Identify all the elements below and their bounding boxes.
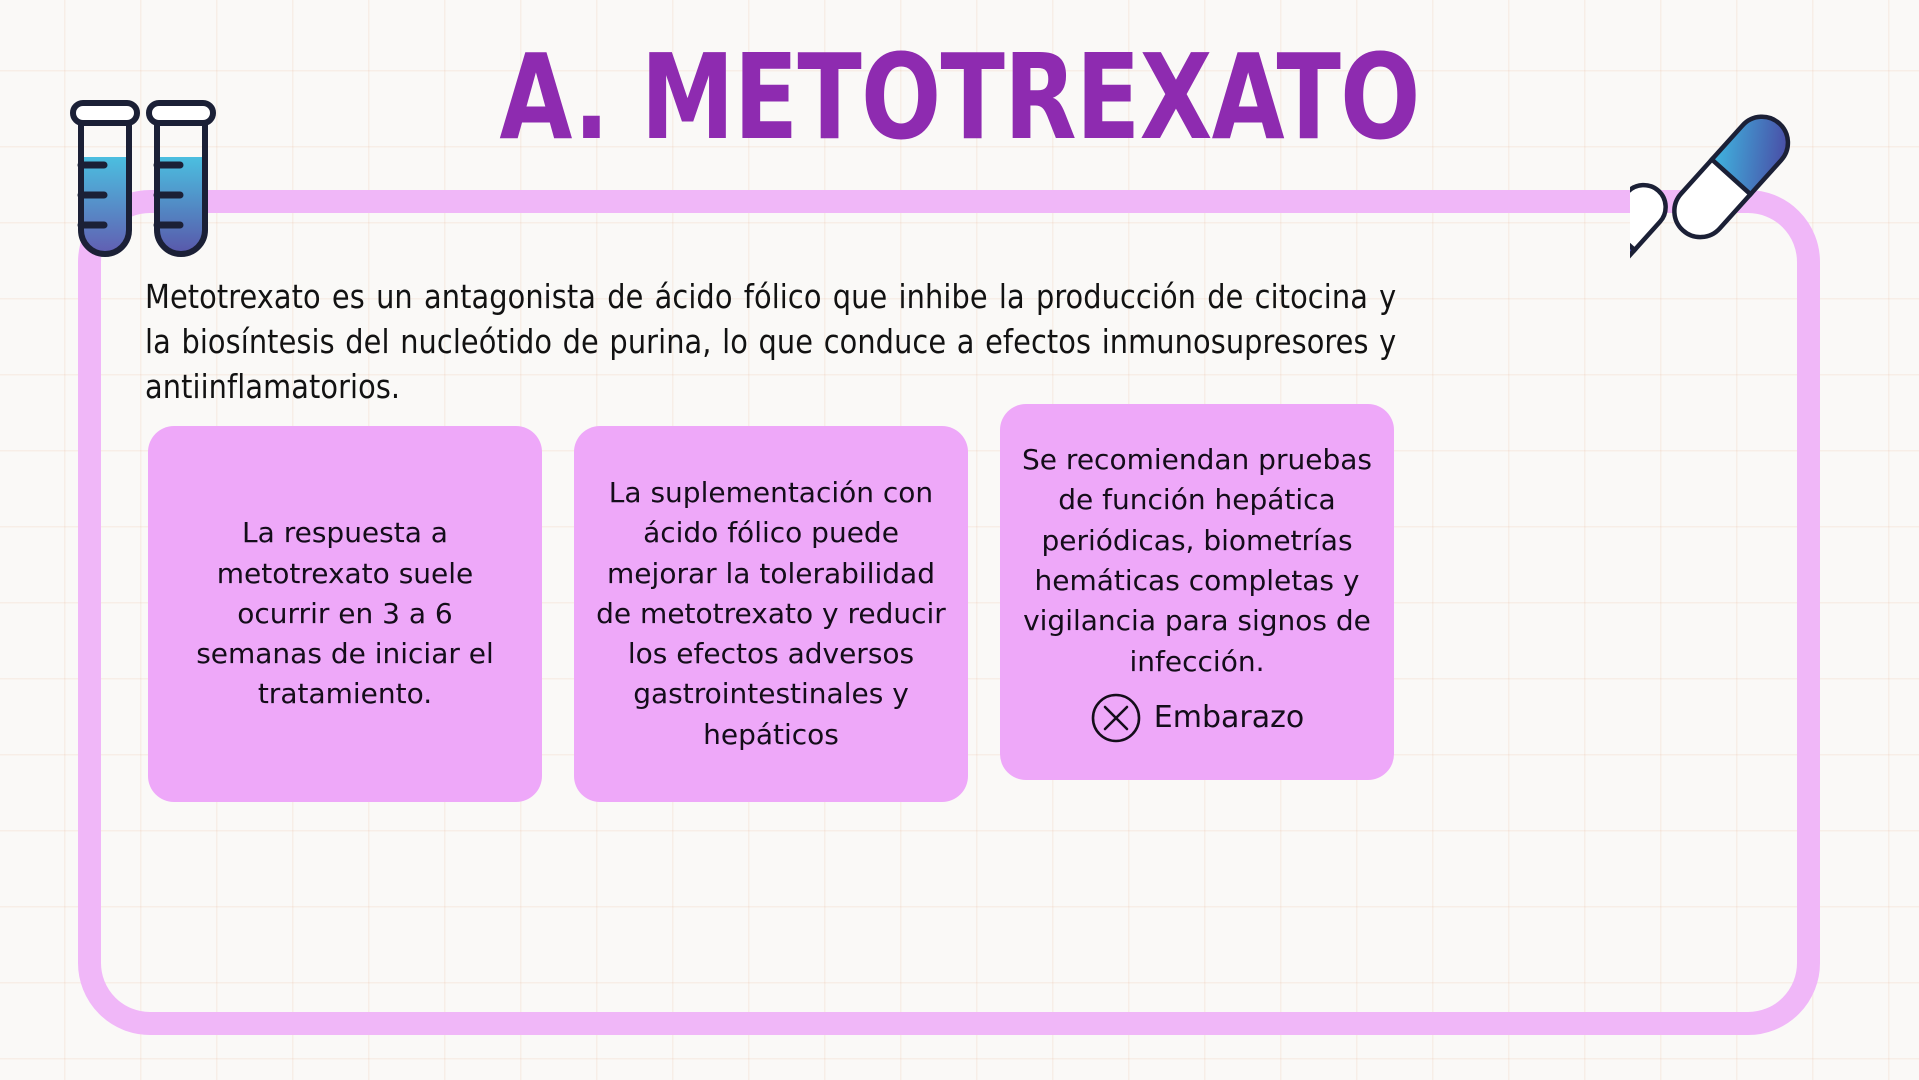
circle-x-icon [1090, 692, 1142, 744]
pregnancy-warning: Embarazo [1022, 692, 1372, 744]
card-response[interactable]: La respuesta a metotrexato suele ocurrir… [148, 426, 542, 802]
test-tubes-icon [68, 95, 228, 260]
slide-canvas: A. METOTREXATO [0, 0, 1919, 1080]
intro-paragraph: Metotrexato es un antagonista de ácido f… [145, 275, 1396, 410]
page-title: A. METOTREXATO [192, 38, 1727, 156]
cards-row: La respuesta a metotrexato suele ocurrir… [148, 404, 1728, 984]
card-response-text: La respuesta a metotrexato suele ocurrir… [170, 513, 520, 715]
pregnancy-label: Embarazo [1154, 696, 1304, 739]
capsule-pills-icon [1630, 88, 1870, 273]
card-monitoring-text: Se recomiendan pruebas de función hepáti… [1022, 440, 1372, 682]
card-monitoring[interactable]: Se recomiendan pruebas de función hepáti… [1000, 404, 1394, 780]
card-folic-acid[interactable]: La suplementación con ácido fólico puede… [574, 426, 968, 802]
card-folic-acid-text: La suplementación con ácido fólico puede… [596, 473, 946, 755]
